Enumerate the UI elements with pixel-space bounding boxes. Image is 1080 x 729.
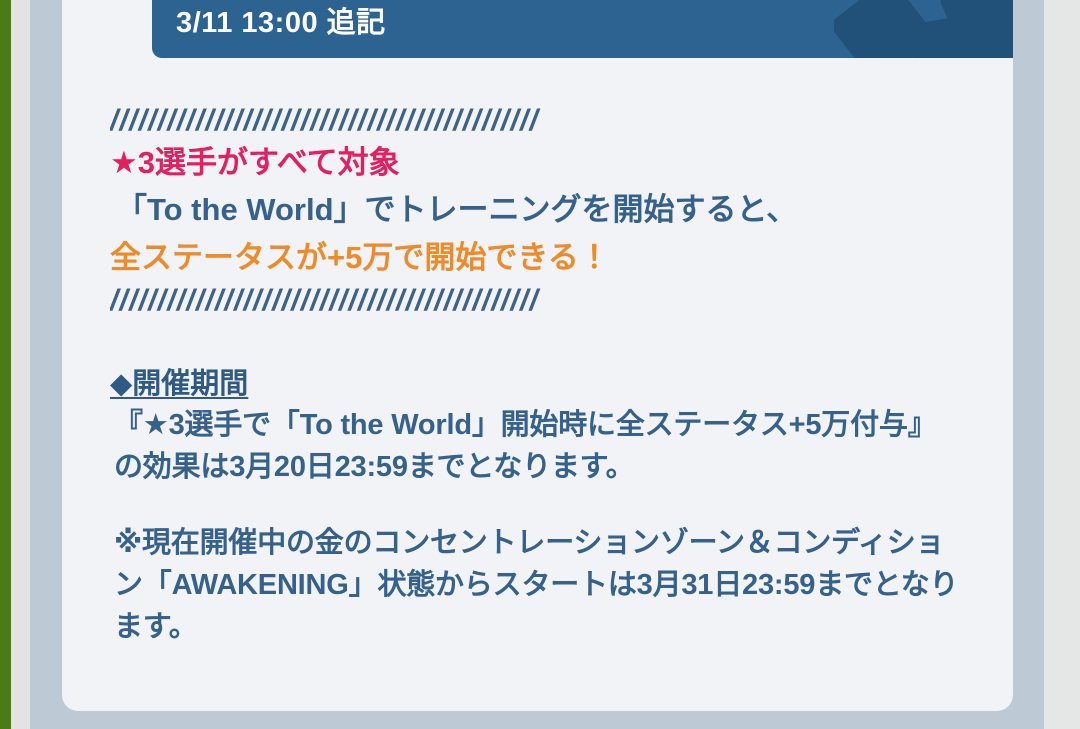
announcement-banner: 3/11 13:00 追記: [152, 0, 1013, 58]
highlight-line-blue: 「To the World」でトレーニングを開始すると、: [110, 186, 965, 234]
highlight-line-pink: ★3選手がすべて対象: [110, 140, 965, 186]
paragraph-event-period: 『★3選手で「To the World」開始時に全ステータス+5万付与』の効果は…: [110, 404, 965, 488]
paragraph-note: ※現在開催中の金のコンセントレーションゾーン＆コンディション「AWAKENING…: [110, 522, 965, 648]
announcement-body: ////////////////////////////////////////…: [62, 58, 1013, 648]
spacer: [110, 488, 965, 522]
left-gutter: [11, 0, 30, 729]
announcement-card: 3/11 13:00 追記 //////////////////////////…: [62, 0, 1013, 711]
right-gutter: [1044, 0, 1080, 729]
spacer: [110, 320, 965, 364]
banner-title: 3/11 13:00 追記: [176, 0, 386, 46]
divider-rule-top: ////////////////////////////////////////…: [110, 102, 965, 140]
left-green-rail: [0, 0, 11, 729]
section-heading-wrap: ◆開催期間: [110, 364, 965, 404]
divider-rule-bottom: ////////////////////////////////////////…: [110, 282, 965, 320]
highlight-line-orange: 全ステータスが+5万で開始できる！: [110, 234, 965, 282]
flags-banner-decoration-icon: [834, 0, 1013, 58]
spacer: [110, 58, 965, 102]
section-heading-period: ◆開催期間: [110, 364, 248, 404]
